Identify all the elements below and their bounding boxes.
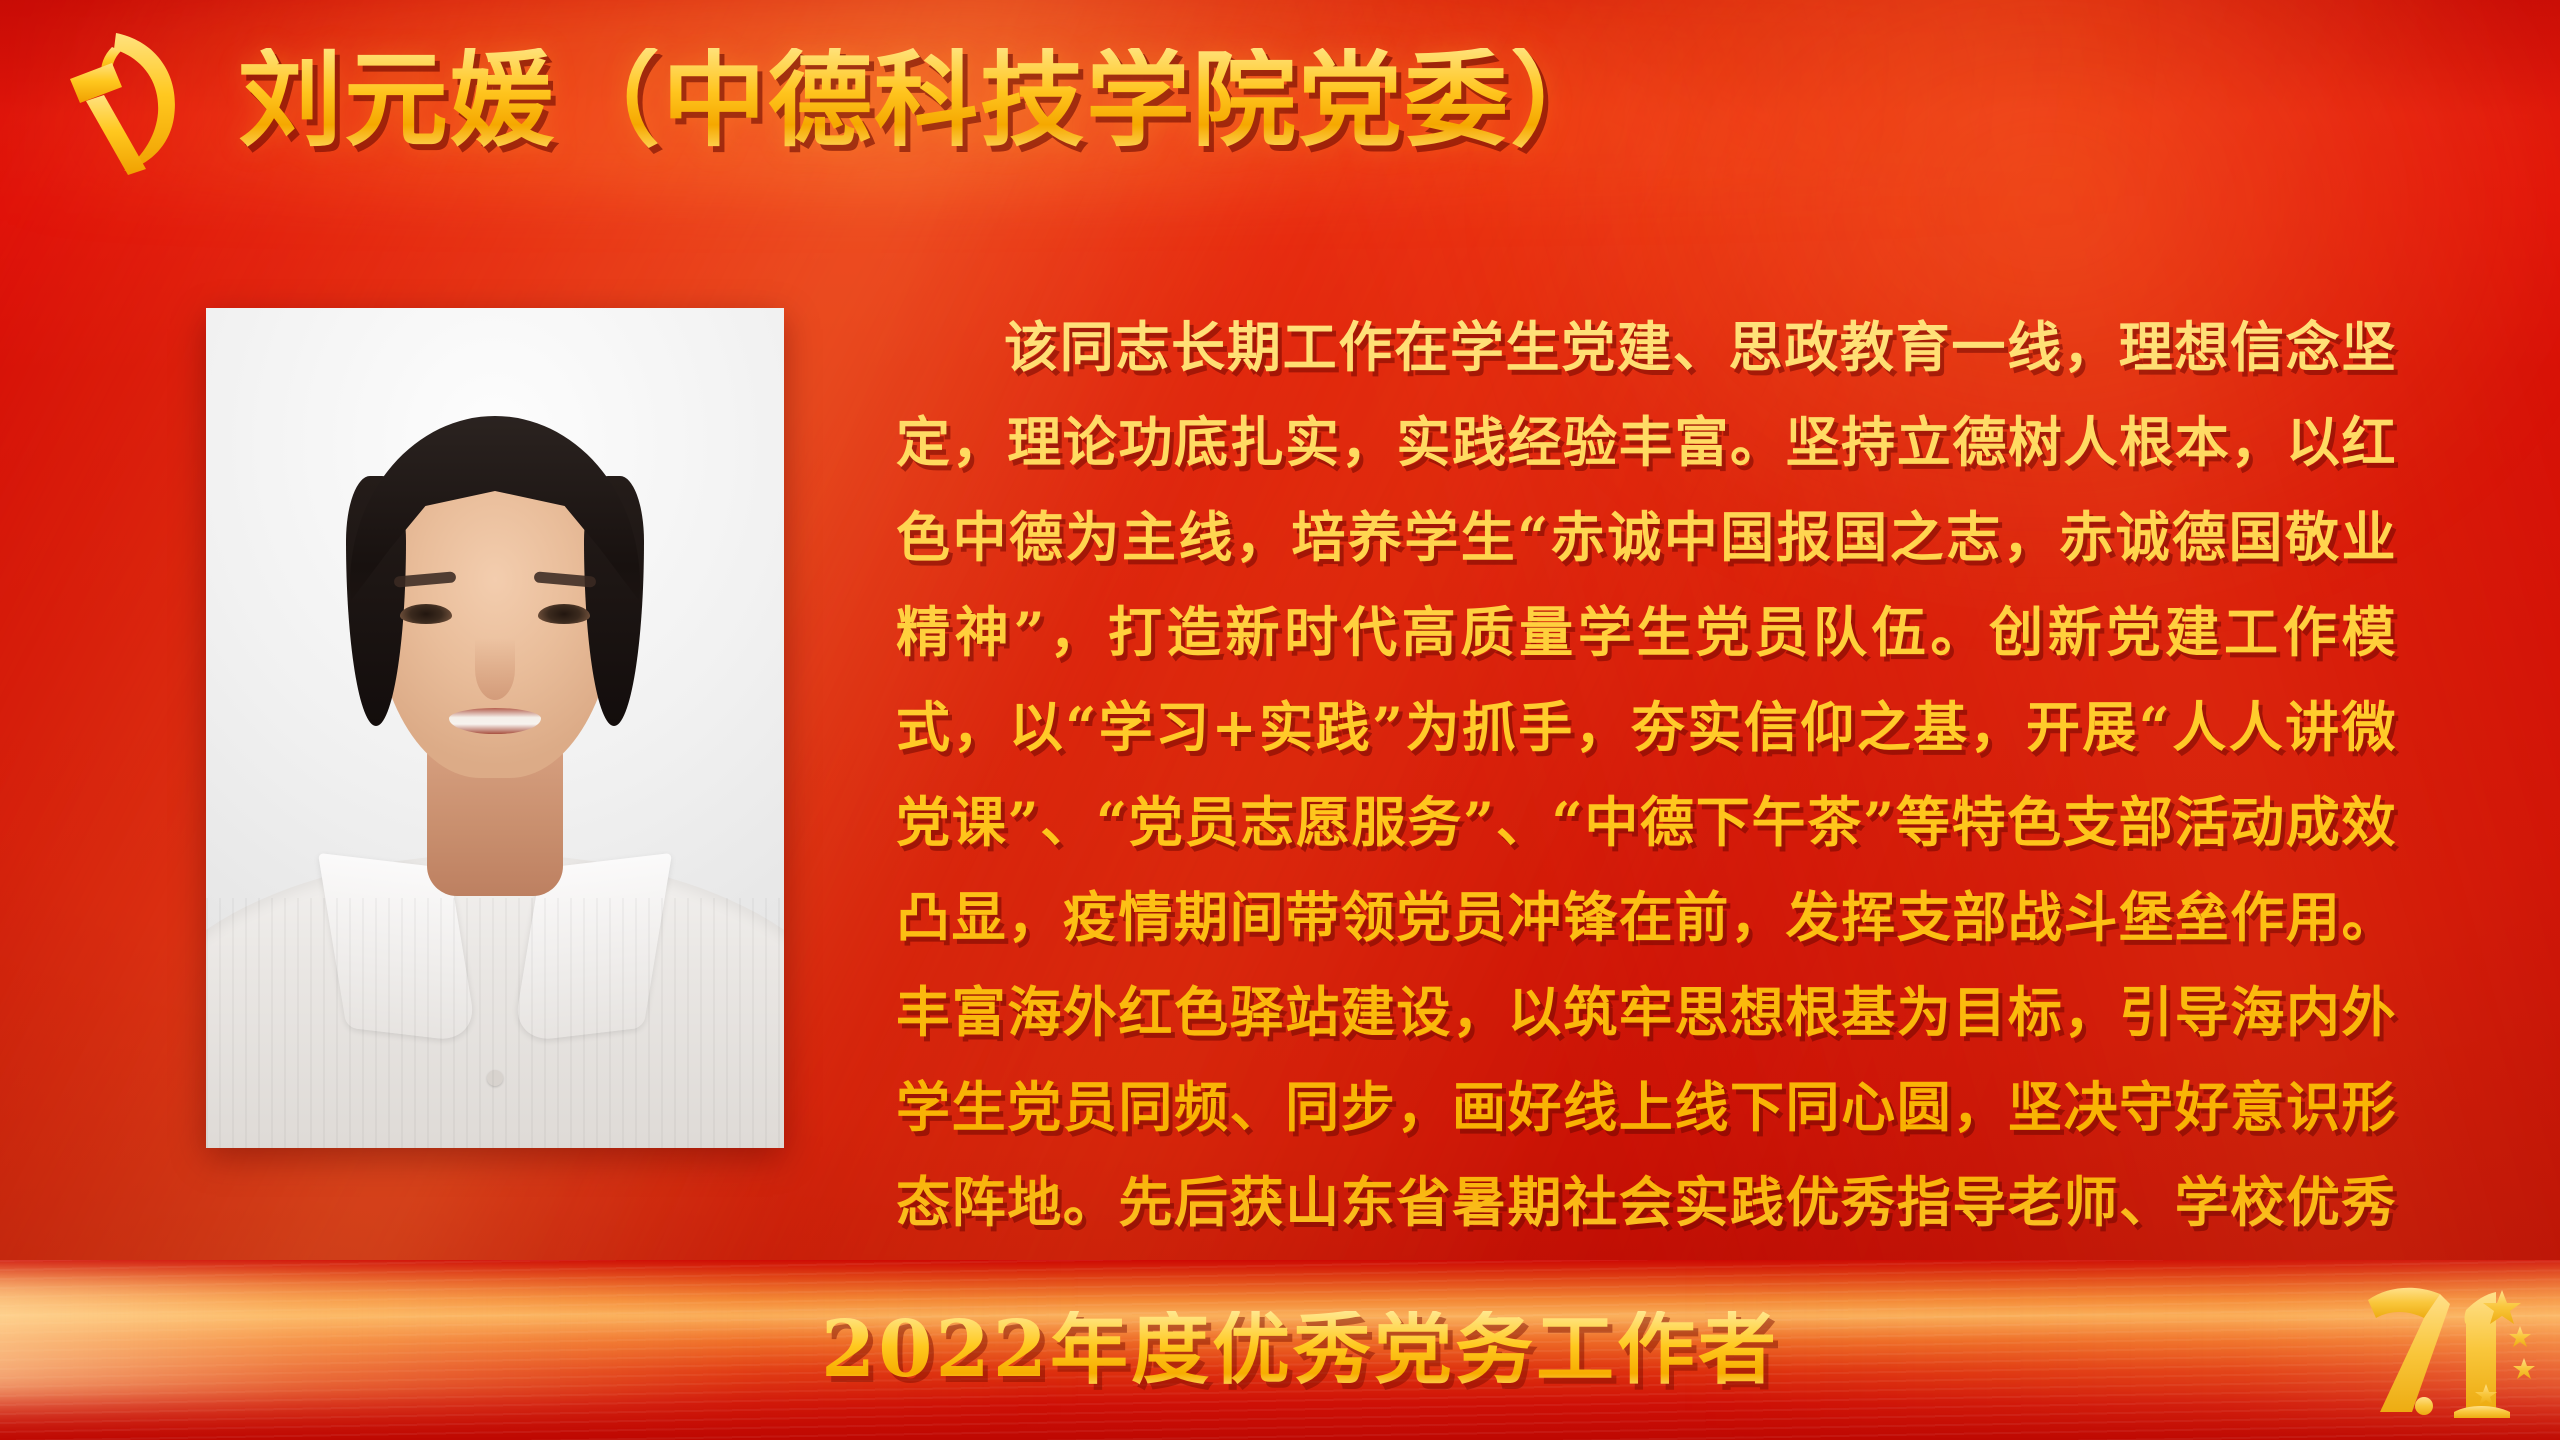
portrait-eye-left — [400, 604, 452, 624]
ccp-hammer-sickle-emblem-icon — [52, 25, 224, 175]
page-title: 刘元媛（中德科技学院党委） — [238, 48, 1616, 152]
footer-banner: 2022年度优秀党务工作者 — [0, 1260, 2560, 1440]
portrait-eye-right — [538, 604, 590, 624]
july-first-party-anniversary-logo-icon — [2354, 1266, 2544, 1426]
portrait-photo — [206, 308, 784, 1148]
header-bar: 刘元媛（中德科技学院党委） — [0, 0, 2560, 200]
portrait-nose — [475, 638, 515, 700]
portrait-shirt-button — [487, 1070, 503, 1086]
slide-canvas: 刘元媛（中德科技学院党委） 该同志长期工作在学生党建、思政教育一线，理想信念坚定… — [0, 0, 2560, 1440]
footer-title: 2022年度优秀党务工作者 — [0, 1311, 2560, 1389]
biography-paragraph: 该同志长期工作在学生党建、思政教育一线，理想信念坚定，理论功底扎实，实践经验丰富… — [896, 300, 2396, 1345]
portrait-shoulders — [206, 854, 784, 1148]
portrait-photo-frame — [206, 308, 784, 1148]
